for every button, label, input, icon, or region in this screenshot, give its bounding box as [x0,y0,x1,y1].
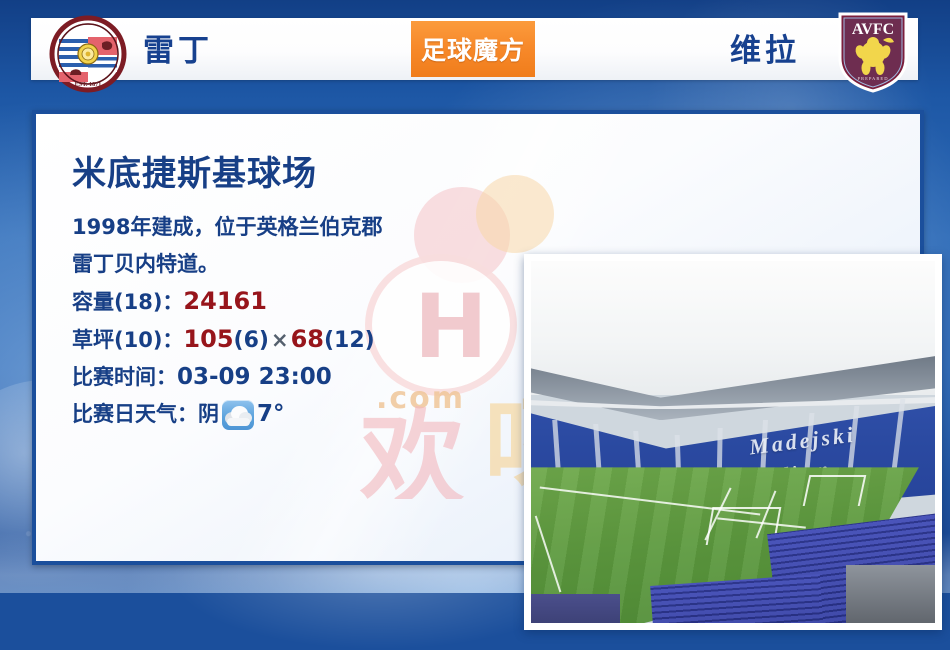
pitch-length-rank: (6) [234,328,269,353]
stadium-info-text: 米底捷斯基球场 1998年建成，位于英格兰伯克郡 雷丁贝内特道。 容量(18)：… [72,146,502,433]
pitch-size-line: 草坪(10)：105(6)×68(12) [72,321,502,359]
pitch-label: 草坪(10)： [72,328,183,352]
stadium-info-panel: H .com 欢 呀 米底捷斯基球场 1998年建成，位于英格兰伯克郡 雷丁贝内… [32,110,924,565]
stadium-photo-frame[interactable]: Madejski Stadium [524,254,942,630]
svg-text:PREPARED: PREPARED [857,76,888,81]
svg-text:EST. 1871: EST. 1871 [75,81,102,88]
away-team-name: 维拉 [600,30,800,72]
match-time-line: 比赛时间：03-09 23:00 [72,359,502,396]
stadium-title: 米底捷斯基球场 [72,146,502,195]
home-team-name: 雷丁 [143,30,383,72]
stadium-description-line-1: 1998年建成，位于英格兰伯克郡 [72,209,502,246]
svg-text:AVFC: AVFC [852,21,894,38]
stadium-photo: Madejski Stadium [531,261,935,623]
match-time-value: 03-09 23:00 [177,364,332,390]
temperature-value: 7° [257,396,285,433]
reading-fc-crest-icon: EST. 1871 [49,15,127,93]
match-weather-line: 比赛日天气：阴 7° [72,396,502,433]
pitch-width: 68 [291,325,324,353]
stadium-description-line-2: 雷丁贝内特道。 [72,246,502,283]
weather-value: 阴 [198,396,219,433]
pitch-width-rank: (12) [324,328,375,353]
match-time-label: 比赛时间： [72,365,177,389]
pitch-length: 105 [183,325,233,353]
site-logo[interactable]: 足球魔方 [411,21,535,77]
weather-label: 比赛日天气： [72,396,198,433]
site-logo-text: 足球魔方 [421,31,525,67]
capacity-label: 容量(18)： [72,290,183,314]
multiply-sign: × [269,328,291,352]
capacity-line: 容量(18)：24161 [72,283,502,321]
cloudy-icon [222,400,254,430]
aston-villa-crest-icon: AVFC PREPARED [836,10,910,94]
capacity-value: 24161 [183,287,267,315]
